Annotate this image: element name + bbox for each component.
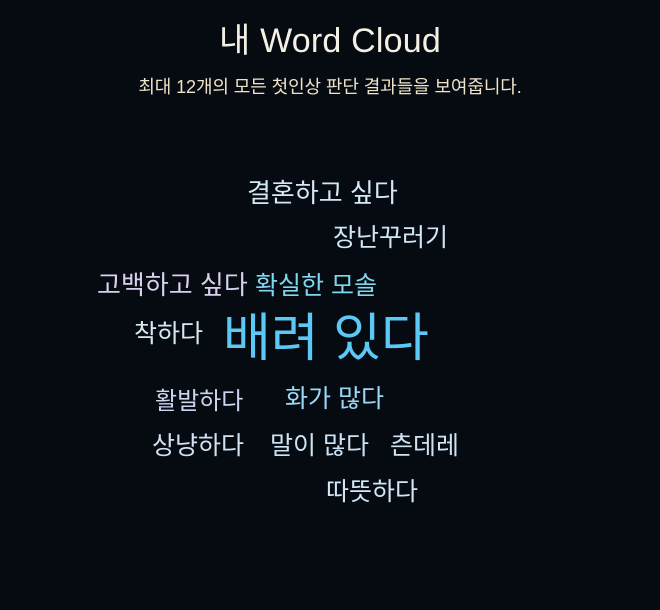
cloud-word[interactable]: 결혼하고 싶다 xyxy=(247,180,398,206)
page-title: 내 Word Cloud xyxy=(0,18,660,64)
cloud-word[interactable]: 화가 많다 xyxy=(285,387,384,412)
cloud-word[interactable]: 장난꾸러기 xyxy=(333,226,448,251)
cloud-word[interactable]: 활발하다 xyxy=(155,390,243,414)
cloud-word[interactable]: 고백하고 싶다 xyxy=(97,272,248,298)
cloud-word[interactable]: 따뜻하다 xyxy=(326,480,418,505)
page-header: 내 Word Cloud 최대 12개의 모든 첫인상 판단 결과들을 보여줍니… xyxy=(0,0,660,100)
cloud-word[interactable]: 츤데레 xyxy=(390,434,459,459)
word-cloud-screen: 내 Word Cloud 최대 12개의 모든 첫인상 판단 결과들을 보여줍니… xyxy=(0,0,660,610)
page-subtitle: 최대 12개의 모든 첫인상 판단 결과들을 보여줍니다. xyxy=(0,74,660,100)
cloud-word[interactable]: 배려 있다 xyxy=(223,313,429,365)
word-cloud-canvas: 결혼하고 싶다장난꾸러기고백하고 싶다확실한 모솔착하다배려 있다활발하다화가 … xyxy=(0,150,660,550)
cloud-word[interactable]: 말이 많다 xyxy=(270,434,369,459)
cloud-word[interactable]: 착하다 xyxy=(134,322,203,347)
cloud-word[interactable]: 상냥하다 xyxy=(152,434,244,459)
cloud-word[interactable]: 확실한 모솔 xyxy=(255,274,377,299)
